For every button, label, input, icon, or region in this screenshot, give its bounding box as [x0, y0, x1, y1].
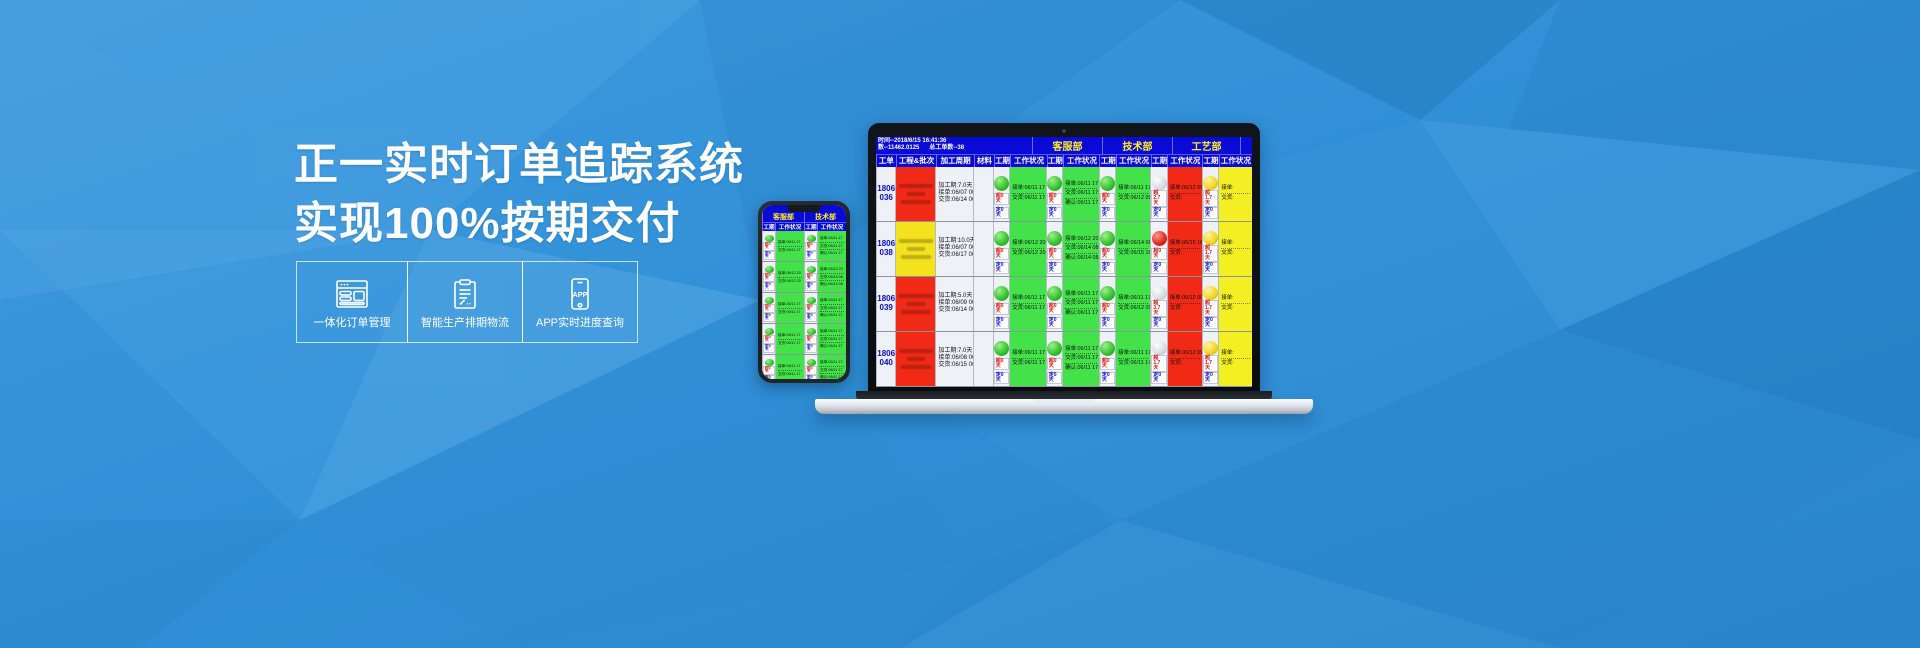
status-line: 接单:06/11 17: [778, 333, 802, 338]
list-item[interactable]: 超0天定0天接单:06/11 17交货:06/11 17超0天定0天接单:06/…: [762, 293, 846, 324]
tag-overdue: 超0天: [805, 366, 817, 375]
erp-duration-cell[interactable]: 超1.7天定0天: [1202, 332, 1218, 386]
status-line: 交货:06/11 17: [820, 244, 844, 249]
divider: [778, 370, 802, 371]
status-indicator-dot: [1100, 176, 1115, 191]
table-row[interactable]: 1806040加工期:7.0天接单:06/08 00交货:06/15 00超0天…: [876, 332, 1252, 387]
erp-work-status-cell[interactable]: 接单:06/12 09交货:: [1167, 167, 1202, 221]
erp-subcol-跟单部-工期[interactable]: 工期: [1202, 155, 1219, 167]
erp-col-工程&批次[interactable]: 工程&批次: [896, 155, 937, 167]
erp-duration-cell[interactable]: 超0天定0天: [1099, 222, 1115, 276]
tag-overdue: 超0天: [1100, 248, 1115, 260]
tag-overdue: 超1.7天: [1203, 245, 1218, 262]
erp-work-status-cell[interactable]: 接单:06/11 17交货:06/11 17确认:06/11 17: [1062, 332, 1099, 386]
redacted-text: [899, 349, 933, 353]
divider: [820, 366, 844, 367]
divider: [778, 308, 802, 309]
tag-scheduled: 定0天: [1100, 262, 1115, 274]
status-line: 确认:06/11 17: [820, 313, 844, 318]
status-line: 交货:06/14 08: [1065, 245, 1097, 252]
phone-dept-header-2[interactable]: 技术部: [804, 212, 846, 222]
divider: [1118, 303, 1148, 304]
status-indicator-dot: [994, 286, 1009, 301]
feature-box-production-schedule[interactable]: 智能生产排期物流: [407, 261, 523, 343]
tag-scheduled: 定0天: [763, 344, 775, 353]
erp-work-order[interactable]: 1806036: [876, 167, 895, 221]
tag-scheduled: 定0天: [1203, 207, 1218, 219]
phone-body: 客服部技术部工期工作状况工期工作状况超0天定0天接单:06/11 17交货:06…: [758, 201, 850, 383]
tag-scheduled: 定0天: [805, 375, 817, 379]
table-row[interactable]: 1806038加工期:10.0天接单:06/07 00交货:06/17 00超0…: [876, 222, 1252, 277]
phone-duration-cell[interactable]: 超0天定0天: [762, 355, 775, 379]
tag-overdue: 超0天: [763, 242, 775, 251]
erp-processing-cycle[interactable]: 加工期:10.0天接单:06/07 00交货:06/17 00: [935, 222, 973, 276]
status-line: 交货:06/11 17: [1118, 360, 1148, 367]
status-line: 交货:06/11 17: [778, 310, 802, 315]
status-line: 交货:: [1170, 305, 1200, 312]
phone-subcol-客服部-工作状况[interactable]: 工作状况: [775, 223, 804, 231]
tag-overdue: 超0天: [1100, 358, 1115, 370]
divider: [1221, 248, 1250, 249]
erp-duration-cell[interactable]: 超1.7天定0天: [1202, 277, 1218, 331]
status-indicator-dot: [1152, 341, 1167, 355]
tag-overdue: 超0天: [1047, 193, 1062, 205]
phone-dept-header-1[interactable]: 客服部: [762, 212, 804, 222]
redacted-text: [901, 365, 931, 369]
erp-work-status-cell[interactable]: 接单:06/15 16交货:: [1167, 222, 1202, 276]
divider: [778, 339, 802, 340]
cycle-line: 加工期:7.0天: [938, 348, 971, 355]
tag-overdue: 超0天: [1047, 358, 1062, 370]
divider: [1221, 358, 1250, 359]
divider: [1221, 193, 1250, 194]
erp-col-材料[interactable]: 材料: [974, 155, 994, 167]
tag-scheduled: 定0天: [1203, 317, 1218, 329]
tag-scheduled: 定0天: [1151, 372, 1166, 384]
tag-overdue: 超0天: [994, 193, 1009, 205]
erp-subcol-客服部-工期[interactable]: 工期: [994, 155, 1011, 167]
tag-overdue: 超0天: [763, 304, 775, 313]
status-line: 交货:06/11 17: [820, 337, 844, 342]
erp-work-status-cell[interactable]: 接单:06/11 17交货:06/11 17确认:06/11 17: [1062, 277, 1099, 331]
phone-subcol-技术部-工期[interactable]: 工期: [804, 223, 817, 231]
feature-box-order-management[interactable]: 一体化订单管理: [296, 261, 408, 343]
status-line: 接单:06/11 17: [820, 360, 844, 365]
erp-duration-cell[interactable]: 超0天定0天: [1046, 277, 1062, 331]
erp-work-status-cell[interactable]: 接单:06/14 08交货:06/15 16: [1115, 222, 1150, 276]
erp-col-加工周期[interactable]: 加工周期: [936, 155, 974, 167]
hero-copy: 正一实时订单追踪系统 实现100%按期交付: [294, 136, 724, 253]
feature-box-group: 一体化订单管理 智能生产排期物流 APP AP: [296, 261, 637, 343]
status-line: 交货:06/11 17: [1065, 190, 1097, 197]
erp-duration-cell[interactable]: 超0天定0天: [1046, 332, 1062, 386]
phone-work-status-cell[interactable]: 接单:06/11 17交货:06/11 17: [775, 355, 804, 379]
tag-scheduled: 定0天: [994, 317, 1009, 329]
erp-top-strip: 时间--2018/6/15 16:41:36数--11462.0125总工单数-…: [876, 137, 1252, 154]
phone-work-status-cell[interactable]: 接单:06/12 20交货:06/12 20: [775, 262, 804, 292]
status-line: 接单:06/15 16: [1170, 240, 1200, 247]
erp-material[interactable]: [973, 167, 992, 221]
status-line: 接单:06/11 17: [1012, 350, 1044, 357]
erp-subcol-跟单部-工作状况[interactable]: 工作状况: [1219, 155, 1252, 167]
erp-col-工单[interactable]: 工单: [876, 155, 896, 167]
erp-duration-cell[interactable]: 超1.7天定0天: [1150, 332, 1166, 386]
list-item[interactable]: 超0天定0天接单:06/11 17交货:06/11 17超0天定0天接单:06/…: [762, 355, 846, 379]
tag-overdue: 超0天: [805, 273, 817, 282]
erp-work-status-cell[interactable]: 接单:06/11 17交货:06/11 17: [1009, 167, 1046, 221]
status-line: 交货:06/11 17: [1012, 195, 1044, 202]
status-line: 接单:06/11 17: [778, 240, 802, 245]
phone-duration-cell[interactable]: 超0天定0天: [804, 231, 817, 261]
redacted-text: [899, 184, 933, 188]
divider: [1012, 193, 1044, 194]
phone-duration-cell[interactable]: 超0天定0天: [762, 262, 775, 292]
list-item[interactable]: 超0天定0天接单:06/11 17交货:06/11 17超0天定0天接单:06/…: [762, 324, 846, 355]
tag-scheduled: 定0天: [763, 313, 775, 322]
status-line: 接单:06/12 20: [778, 271, 802, 276]
table-row[interactable]: 1806036加工期:7.0天接单:06/07 00交货:06/14 00超0天…: [876, 167, 1252, 222]
erp-dept-header-3[interactable]: 工艺部: [1172, 137, 1240, 154]
status-line: 接单:06/12 09: [1170, 295, 1200, 302]
tag-scheduled: 定0天: [1203, 262, 1218, 274]
status-indicator-dot: [765, 235, 774, 242]
phone-work-status-cell[interactable]: 接单:06/11 17交货:06/11 17确认:06/11 17: [817, 355, 846, 379]
tag-scheduled: 定0天: [994, 207, 1009, 219]
status-line: 接单:06/12 20: [1012, 240, 1044, 247]
status-line: 接单:: [1221, 350, 1250, 357]
phone-duration-cell[interactable]: 超0天定0天: [804, 324, 817, 354]
tag-overdue: 超0天: [805, 335, 817, 344]
erp-work-order[interactable]: 1806039: [876, 277, 895, 331]
erp-duration-cell[interactable]: 超0天定0天: [1150, 222, 1166, 276]
erp-project-batch[interactable]: [895, 167, 935, 221]
erp-duration-cell[interactable]: 超2.7天定0天: [1150, 167, 1166, 221]
cycle-line: 加工期:5.0天: [938, 293, 971, 300]
status-indicator-dot: [1203, 286, 1218, 300]
erp-work-status-cell[interactable]: 接单:交货:: [1218, 277, 1252, 331]
status-line: 交货:: [1170, 250, 1200, 257]
tag-overdue: 超1.7天: [1203, 355, 1218, 372]
phone-duration-cell[interactable]: 超0天定0天: [762, 293, 775, 323]
list-item[interactable]: 超0天定0天接单:06/11 17交货:06/11 17超0天定0天接单:06/…: [762, 231, 846, 262]
divider: [820, 242, 844, 243]
table-row[interactable]: 1806039加工期:5.0天接单:06/09 00交货:06/14 00超0天…: [876, 277, 1252, 332]
erp-work-status-cell[interactable]: 接单:交货:: [1218, 167, 1252, 221]
erp-project-batch[interactable]: [895, 277, 935, 331]
erp-processing-cycle[interactable]: 加工期:5.0天接单:06/09 00交货:06/14 00: [935, 277, 973, 331]
erp-duration-cell[interactable]: 超3.7天定0天: [1150, 277, 1166, 331]
phone-duration-cell[interactable]: 超0天定0天: [762, 324, 775, 354]
tag-scheduled: 定0天: [994, 372, 1009, 384]
erp-material[interactable]: [973, 277, 992, 331]
erp-material[interactable]: [973, 332, 992, 386]
phone-erp-rows: 超0天定0天接单:06/11 17交货:06/11 17超0天定0天接单:06/…: [762, 231, 846, 379]
erp-work-status-cell[interactable]: 接单:06/12 09交货:: [1167, 332, 1202, 386]
status-indicator-dot: [765, 359, 774, 366]
status-line: 接单:06/12 20: [820, 267, 844, 272]
tag-scheduled: 定0天: [763, 375, 775, 379]
redacted-text: [899, 239, 933, 243]
status-line: 交货:06/11 17: [778, 248, 802, 253]
tag-scheduled: 定0天: [1047, 207, 1062, 219]
status-indicator-dot: [807, 359, 816, 366]
divider: [820, 335, 844, 336]
status-indicator-dot: [994, 341, 1009, 356]
status-indicator-dot: [807, 235, 816, 242]
status-indicator-dot: [807, 297, 816, 304]
phone-duration-cell[interactable]: 超0天定0天: [804, 355, 817, 379]
tag-overdue: 超0天: [1100, 303, 1115, 315]
tag-scheduled: 定0天: [805, 344, 817, 353]
phone-erp-table[interactable]: 客服部技术部工期工作状况工期工作状况超0天定0天接单:06/11 17交货:06…: [762, 205, 846, 379]
erp-work-status-cell[interactable]: 接单:06/12 20交货:06/14 08确认:06/14 08: [1062, 222, 1099, 276]
phone-duration-cell[interactable]: 超0天定0天: [762, 231, 775, 261]
erp-subcol-工艺部-工期[interactable]: 工期: [1099, 155, 1116, 167]
divider: [1221, 303, 1250, 304]
status-line: 接单:06/14 08: [1118, 240, 1148, 247]
status-line: 交货:: [1170, 360, 1200, 367]
feature-box-app-progress[interactable]: APP APP实时进度查询: [522, 261, 638, 343]
status-line: 交货:06/15 16: [1118, 250, 1148, 257]
laptop-lid: 时间--2018/6/15 16:41:36数--11462.0125总工单数-…: [868, 123, 1260, 395]
phone-subcol-客服部-工期[interactable]: 工期: [762, 223, 775, 231]
erp-dept-header-2[interactable]: 技术部: [1102, 137, 1172, 154]
erp-work-status-cell[interactable]: 接单:06/11 17交货:06/11 17: [1009, 277, 1046, 331]
phone-notch: [787, 205, 821, 212]
laptop-screen: 时间--2018/6/15 16:41:36数--11462.0125总工单数-…: [876, 137, 1252, 387]
status-indicator-dot: [1100, 341, 1115, 356]
phone-mockup: 客服部技术部工期工作状况工期工作状况超0天定0天接单:06/11 17交货:06…: [758, 201, 850, 383]
status-line: 接单:06/12 20: [1065, 236, 1097, 243]
status-indicator-dot: [1203, 341, 1218, 355]
erp-project-batch[interactable]: [895, 222, 935, 276]
status-line: 交货:06/11 17: [1065, 355, 1097, 362]
divider: [1170, 358, 1200, 359]
status-line: 交货:06/12 09: [1118, 195, 1148, 202]
phone-work-status-cell[interactable]: 接单:06/11 17交货:06/11 17: [775, 324, 804, 354]
tag-scheduled: 定0天: [1151, 207, 1166, 219]
divider: [820, 273, 844, 274]
tag-scheduled: 定0天: [1151, 317, 1166, 329]
webcam-icon: [1062, 129, 1066, 133]
erp-subcol-客服部-工作状况[interactable]: 工作状况: [1010, 155, 1046, 167]
status-line: 接单:06/11 17: [1065, 291, 1097, 298]
cycle-line: 加工期:7.0天: [938, 183, 971, 190]
divider: [778, 277, 802, 278]
cycle-line: 交货:06/17 00: [938, 252, 971, 259]
phone-work-status-cell[interactable]: 接单:06/11 17交货:06/11 17确认:06/11 17: [817, 293, 846, 323]
erp-work-status-cell[interactable]: 接单:06/11 17交货:06/11 17: [1009, 332, 1046, 386]
erp-work-status-cell[interactable]: 接单:06/11 17交货:06/11 17: [1115, 332, 1150, 386]
tag-scheduled: 定0天: [1100, 317, 1115, 329]
status-line: 接单:: [1221, 295, 1250, 302]
feature-label-order-management: 一体化订单管理: [314, 318, 391, 329]
erp-duration-cell[interactable]: 超0天定0天: [1099, 167, 1115, 221]
divider: [1012, 358, 1044, 359]
cycle-line: 交货:06/14 00: [938, 307, 971, 314]
divider: [1170, 248, 1200, 249]
divider: [1170, 303, 1200, 304]
status-line: 交货:06/11 17: [820, 368, 844, 373]
redacted-text: [907, 247, 925, 251]
laptop-mockup: 时间--2018/6/15 16:41:36数--11462.0125总工单数-…: [868, 123, 1260, 395]
redacted-text: [901, 310, 931, 314]
status-line: 确认:06/11 17: [820, 375, 844, 379]
status-line: 确认:06/11 17: [1065, 310, 1097, 317]
status-indicator-dot: [994, 176, 1009, 191]
divider: [1118, 248, 1148, 249]
phone-duration-cell[interactable]: 超0天定0天: [804, 293, 817, 323]
redacted-text: [907, 302, 925, 306]
erp-duration-cell[interactable]: 超0天定0天: [1099, 332, 1115, 386]
divider: [1065, 198, 1097, 199]
svg-text:APP: APP: [572, 290, 587, 299]
erp-duration-cell[interactable]: 超0天定0天: [993, 332, 1009, 386]
status-indicator-dot: [765, 266, 774, 273]
erp-rows: 1806036加工期:7.0天接单:06/07 00交货:06/14 00超0天…: [876, 167, 1252, 387]
status-indicator-dot: [1152, 176, 1167, 190]
tag-scheduled: 定0天: [1047, 372, 1062, 384]
headline-line-1: 正一实时订单追踪系统: [294, 136, 724, 195]
status-line: 交货:: [1170, 195, 1200, 202]
status-line: 接单:06/11 17: [820, 329, 844, 334]
erp-order-tracking-table[interactable]: 时间--2018/6/15 16:41:36数--11462.0125总工单数-…: [876, 137, 1252, 387]
erp-duration-cell[interactable]: 超0天定0天: [993, 277, 1009, 331]
phone-work-status-cell[interactable]: 接单:06/11 17交货:06/11 17确认:06/11 17: [817, 231, 846, 261]
tag-overdue: 超1.7天: [1203, 300, 1218, 317]
erp-department-headers: 客服部技术部工艺部生产部跟单部: [1032, 137, 1252, 154]
status-indicator-dot: [1152, 231, 1167, 246]
status-line: 接单:: [1221, 185, 1250, 192]
status-indicator-dot: [807, 328, 816, 335]
status-line: 接单:06/11 17: [778, 302, 802, 307]
erp-duration-cell[interactable]: 超1.7天定0天: [1202, 222, 1218, 276]
erp-project-batch[interactable]: [895, 332, 935, 386]
status-line: 交货:06/12 20: [778, 279, 802, 284]
tag-overdue: 超0天: [1100, 193, 1115, 205]
tag-overdue: 超1.7天: [1203, 190, 1218, 207]
phone-work-status-cell[interactable]: 接单:06/11 17交货:06/11 17: [775, 231, 804, 261]
erp-subcol-生产部-工期[interactable]: 工期: [1151, 155, 1168, 167]
erp-work-status-cell[interactable]: 接单:06/12 09交货:: [1167, 277, 1202, 331]
erp-dept-header-4[interactable]: 生产部: [1240, 137, 1252, 154]
status-line: 交货:06/11 17: [1012, 360, 1044, 367]
phone-work-status-cell[interactable]: 接单:06/11 17交货:06/11 17: [775, 293, 804, 323]
erp-work-status-cell[interactable]: 接单:交货:: [1218, 222, 1252, 276]
erp-work-order[interactable]: 1806040: [876, 332, 895, 386]
tag-scheduled: 定0天: [1151, 262, 1166, 274]
erp-duration-cell[interactable]: 超0天定0天: [1046, 222, 1062, 276]
status-indicator-dot: [1100, 286, 1115, 301]
redacted-text: [907, 357, 925, 361]
redacted-text: [901, 255, 931, 259]
status-line: 接单:: [1221, 240, 1250, 247]
tag-overdue: 超0天: [763, 366, 775, 375]
tag-scheduled: 定0天: [805, 313, 817, 322]
tag-overdue: 超0天: [1047, 303, 1062, 315]
status-line: 接单:06/11 17: [820, 236, 844, 241]
mobile-app-icon: APP: [568, 275, 592, 313]
tag-overdue: 超0天: [763, 273, 775, 282]
status-line: 接单:06/11 17: [1118, 350, 1148, 357]
erp-subcol-技术部-工期[interactable]: 工期: [1047, 155, 1064, 167]
status-indicator-dot: [765, 328, 774, 335]
divider: [1118, 358, 1148, 359]
status-line: 接单:06/11 17: [1118, 185, 1148, 192]
erp-work-status-cell[interactable]: 接单:交货:: [1218, 332, 1252, 386]
tag-overdue: 超0天: [994, 358, 1009, 370]
erp-subcol-技术部-工作状况[interactable]: 工作状况: [1063, 155, 1099, 167]
erp-duration-cell[interactable]: 超0天定0天: [1099, 277, 1115, 331]
tag-overdue: 超3.7天: [1151, 300, 1166, 317]
clipboard-schedule-icon: [451, 275, 479, 313]
divider: [820, 304, 844, 305]
divider: [1065, 308, 1097, 309]
erp-processing-cycle[interactable]: 加工期:7.0天接单:06/07 00交货:06/14 00: [935, 167, 973, 221]
divider: [778, 246, 802, 247]
erp-material[interactable]: [973, 222, 992, 276]
tag-scheduled: 定0天: [1047, 262, 1062, 274]
erp-work-status-cell[interactable]: 接单:06/12 20交货:06/12 20: [1009, 222, 1046, 276]
divider: [1065, 363, 1097, 364]
status-indicator-dot: [1047, 176, 1062, 191]
status-line: 接单:06/11 17: [1118, 295, 1148, 302]
phone-duration-cell[interactable]: 超0天定0天: [804, 262, 817, 292]
tag-scheduled: 定0天: [994, 262, 1009, 274]
erp-work-status-cell[interactable]: 接单:06/11 17交货:06/11 17确认:06/11 17: [1062, 167, 1099, 221]
erp-work-order[interactable]: 1806038: [876, 222, 895, 276]
divider: [1012, 248, 1044, 249]
status-line: 接单:06/11 17: [778, 364, 802, 369]
feature-label-production-schedule: 智能生产排期物流: [421, 318, 509, 329]
phone-work-status-cell[interactable]: 接单:06/11 17交货:06/11 17确认:06/11 17: [817, 324, 846, 354]
erp-duration-cell[interactable]: 超1.7天定0天: [1202, 167, 1218, 221]
erp-subcol-生产部-工作状况[interactable]: 工作状况: [1167, 155, 1202, 167]
tag-scheduled: 定0天: [763, 282, 775, 291]
tag-overdue: 超1.7天: [1151, 355, 1166, 372]
divider: [1012, 303, 1044, 304]
erp-processing-cycle[interactable]: 加工期:7.0天接单:06/08 00交货:06/15 00: [935, 332, 973, 386]
status-line: 确认:06/11 17: [820, 251, 844, 256]
erp-duration-cell[interactable]: 超0天定0天: [1046, 167, 1062, 221]
status-line: 接单:06/12 09: [1170, 185, 1200, 192]
status-indicator-dot: [1203, 176, 1218, 190]
erp-duration-cell[interactable]: 超0天定0天: [993, 222, 1009, 276]
erp-duration-cell[interactable]: 超0天定0天: [993, 167, 1009, 221]
feature-label-app-progress: APP实时进度查询: [536, 318, 624, 329]
cycle-line: 交货:06/14 00: [938, 197, 971, 204]
erp-dept-header-1[interactable]: 客服部: [1032, 137, 1102, 154]
tag-scheduled: 定0天: [1047, 317, 1062, 329]
list-item[interactable]: 超0天定0天接单:06/12 20交货:06/12 20超0天定0天接单:06/…: [762, 262, 846, 293]
tag-overdue: 超0天: [1047, 248, 1062, 260]
erp-subcol-工艺部-工作状况[interactable]: 工作状况: [1116, 155, 1151, 167]
tag-scheduled: 定0天: [805, 282, 817, 291]
redacted-text: [901, 200, 931, 204]
status-line: 交货:06/12 09: [1118, 305, 1148, 312]
erp-work-status-cell[interactable]: 接单:06/11 17交货:06/12 09: [1115, 167, 1150, 221]
status-indicator-dot: [994, 231, 1009, 246]
status-indicator-dot: [1047, 286, 1062, 301]
status-line: 交货:06/11 17: [1012, 305, 1044, 312]
erp-work-status-cell[interactable]: 接单:06/11 17交货:06/12 09: [1115, 277, 1150, 331]
tag-overdue: 超2.7天: [1151, 190, 1166, 207]
tag-scheduled: 定0天: [1203, 372, 1218, 384]
phone-subcol-技术部-工作状况[interactable]: 工作状况: [817, 223, 846, 231]
phone-work-status-cell[interactable]: 接单:06/12 20交货:06/14 08确认:06/14 08: [817, 262, 846, 292]
tag-scheduled: 定0天: [763, 251, 775, 260]
status-line: 交货:06/12 20: [1012, 250, 1044, 257]
